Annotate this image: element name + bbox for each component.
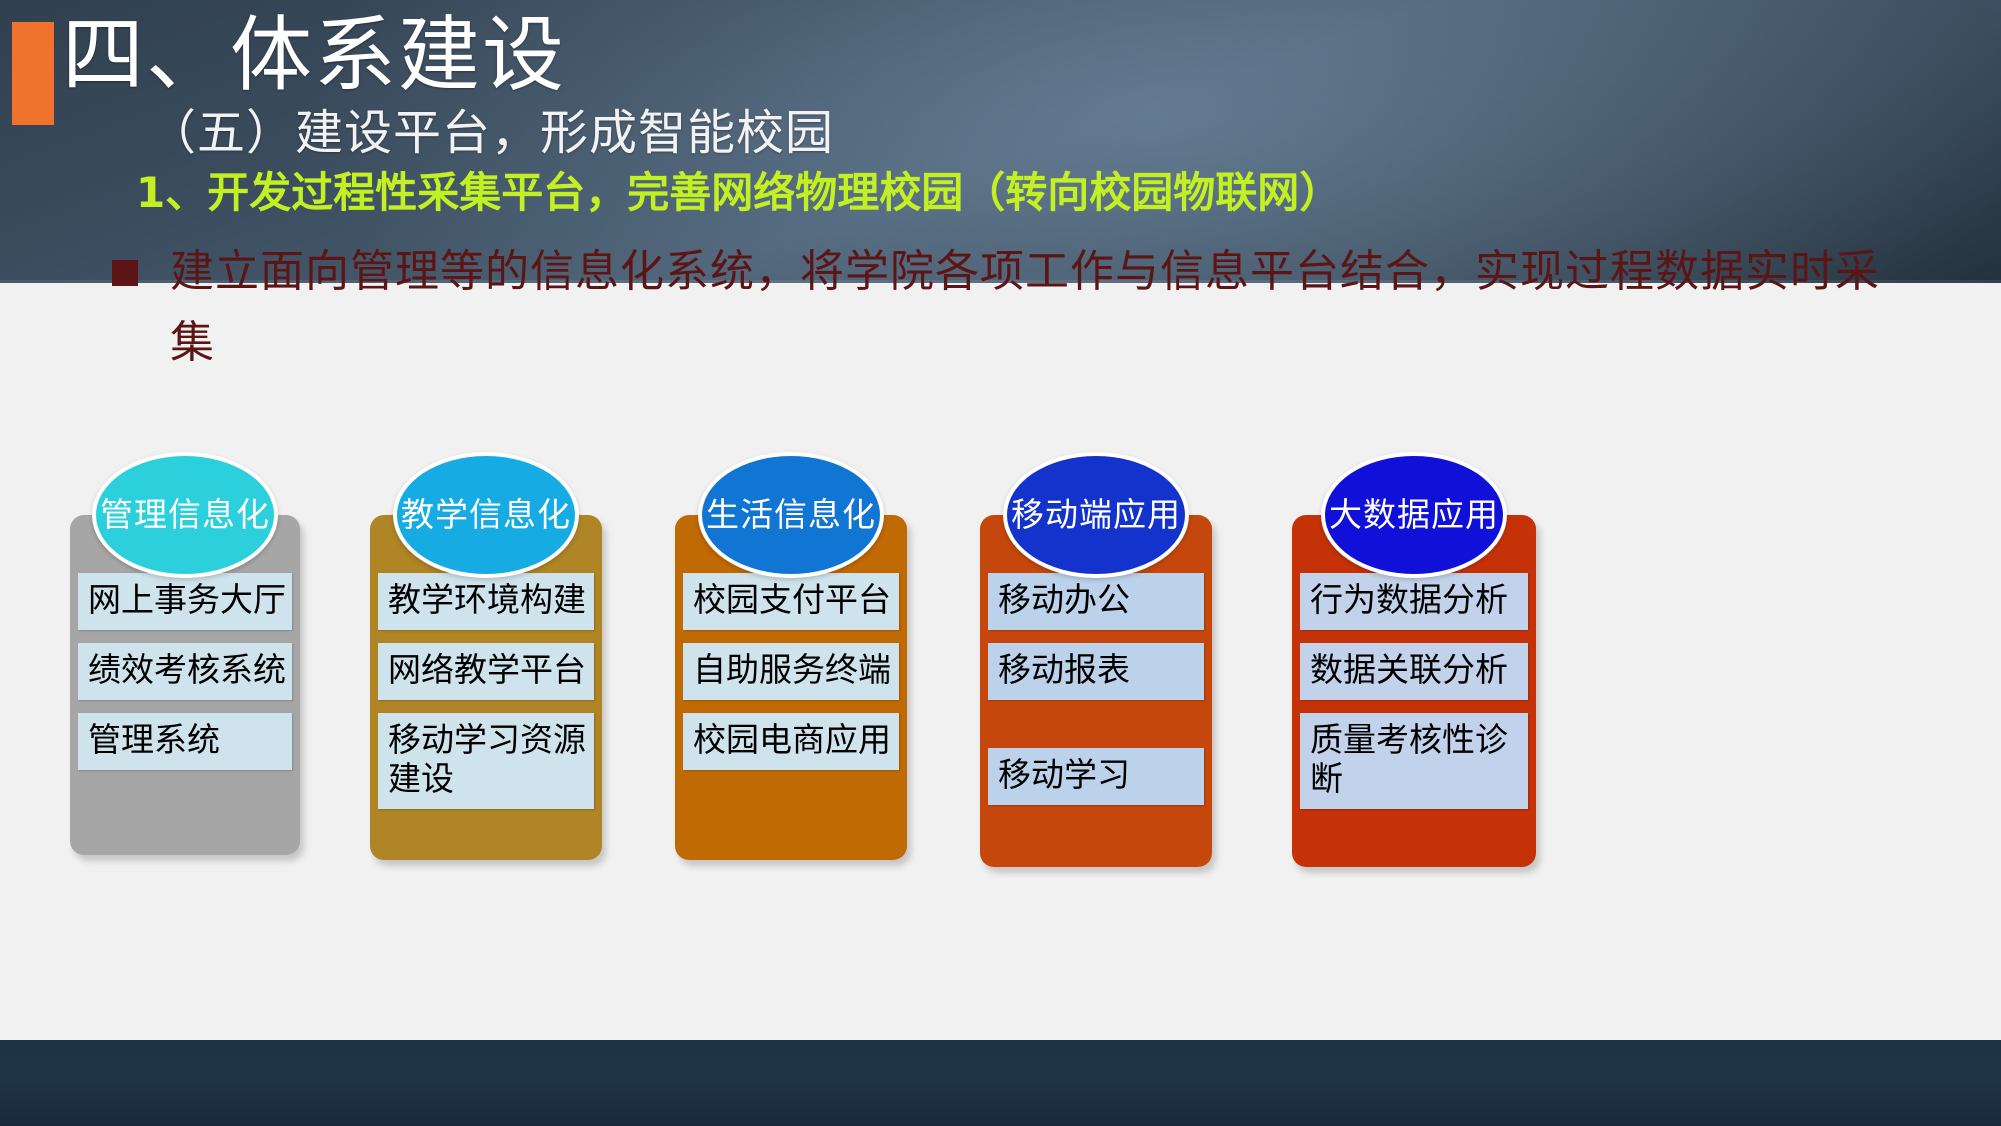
pillar-item[interactable]: 移动报表 [988,643,1204,700]
orange-accent-bar [12,22,54,125]
bullet-text: 建立面向管理等的信息化系统，将学院各项工作与信息平台结合，实现过程数据实时采集 [170,236,1880,379]
pillar-item[interactable]: 校园电商应用 [683,713,899,770]
pillar-item[interactable]: 质量考核性诊断 [1300,713,1528,809]
pillar-item[interactable]: 移动学习 [988,748,1204,805]
pillar-item[interactable]: 数据关联分析 [1300,643,1528,700]
pillar-item[interactable]: 网络教学平台 [378,643,594,700]
pillar-cap-label[interactable]: 生活信息化 [698,452,884,578]
pillar-item[interactable]: 行为数据分析 [1300,573,1528,630]
pillar-item[interactable]: 移动办公 [988,573,1204,630]
pillar-item[interactable]: 管理系统 [78,713,292,770]
bullet-square-icon [112,260,138,286]
pillar-cap-label[interactable]: 管理信息化 [92,452,278,578]
pillar-item[interactable]: 自助服务终端 [683,643,899,700]
page-subtitle-highlight: 1、开发过程性采集平台，完善网络物理校园（转向校园物联网） [136,170,1341,216]
pillar-cap-label[interactable]: 教学信息化 [393,452,579,578]
pillar-columns: 网上事务大厅 绩效考核系统 管理系统 管理信息化 教学环境构建 网络教学平台 移… [0,470,2001,870]
pillar-item[interactable]: 移动学习资源建设 [378,713,594,809]
pillar-item[interactable]: 绩效考核系统 [78,643,292,700]
slide-footer-band [0,1040,2001,1126]
pillar-item[interactable]: 教学环境构建 [378,573,594,630]
pillar-item[interactable]: 校园支付平台 [683,573,899,630]
pillar-cap-label[interactable]: 大数据应用 [1321,452,1507,578]
pillar-cap-label[interactable]: 移动端应用 [1003,452,1189,578]
page-title: 四、体系建设 [62,13,566,99]
pillar-item[interactable]: 网上事务大厅 [78,573,292,630]
page-subtitle: （五）建设平台，形成智能校园 [148,107,834,160]
